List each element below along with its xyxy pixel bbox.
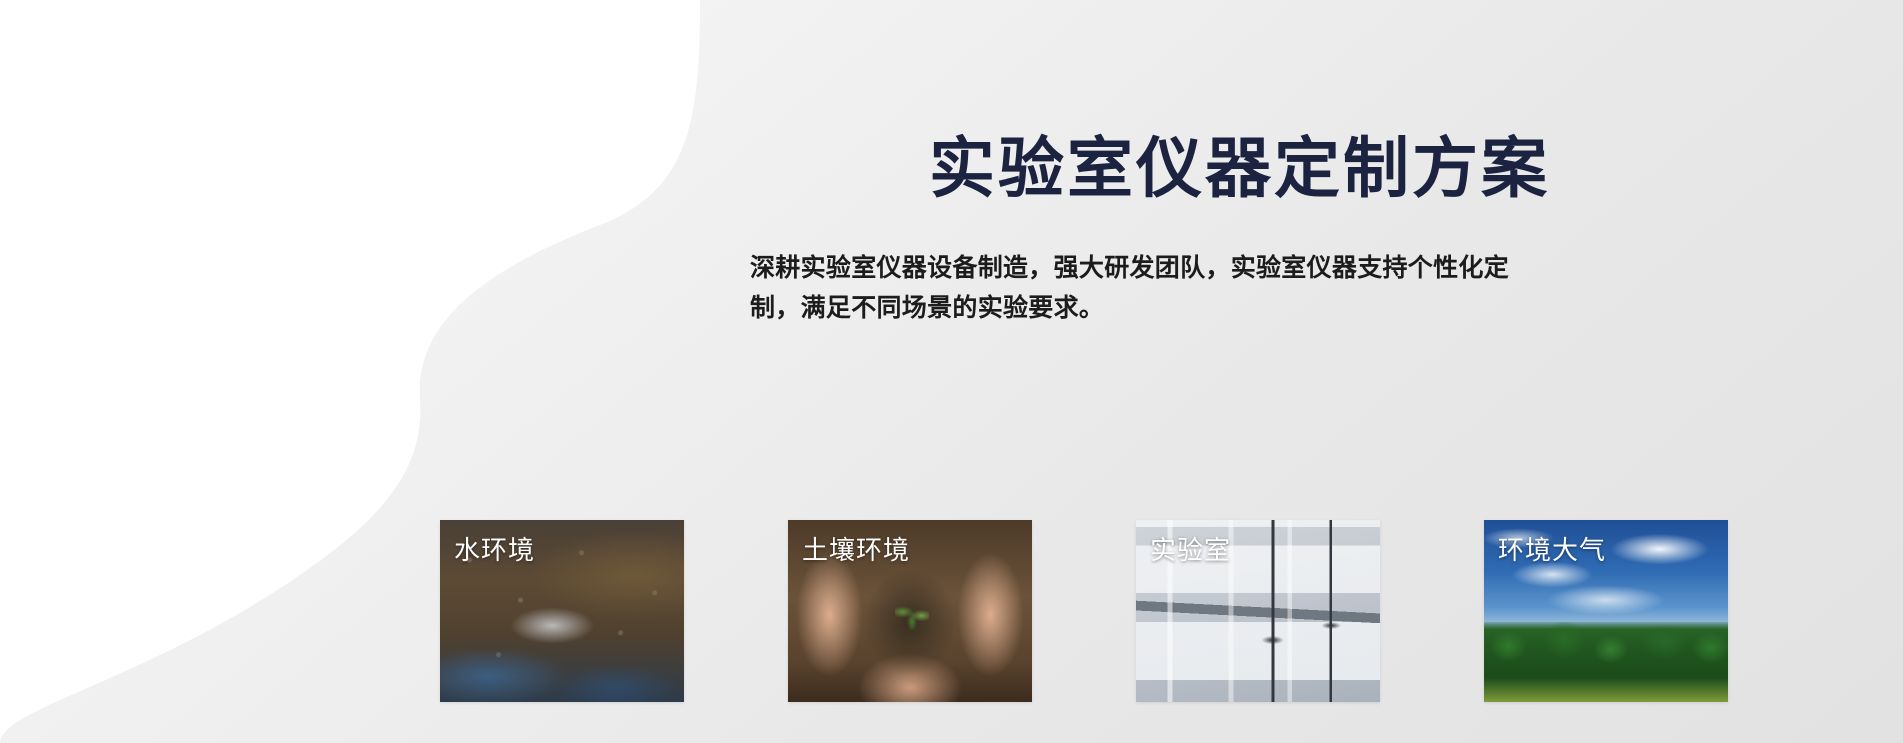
- page-title: 实验室仪器定制方案: [750, 130, 1750, 208]
- category-label: 土壤环境: [802, 530, 910, 567]
- category-label: 实验室: [1150, 530, 1231, 567]
- category-label: 水环境: [454, 530, 535, 567]
- category-card-atmosphere[interactable]: 环境大气: [1484, 520, 1728, 702]
- category-card-list: 水环境 土壤环境 实验室 环境大气: [440, 520, 1728, 702]
- category-card-laboratory[interactable]: 实验室: [1136, 520, 1380, 702]
- laboratory-instrument-banner: 实验室仪器定制方案 深耕实验室仪器设备制造，强大研发团队，实验室仪器支持个性化定…: [0, 0, 1903, 743]
- headline-block: 实验室仪器定制方案 深耕实验室仪器设备制造，强大研发团队，实验室仪器支持个性化定…: [750, 130, 1750, 329]
- category-card-water[interactable]: 水环境: [440, 520, 684, 702]
- page-subtitle: 深耕实验室仪器设备制造，强大研发团队，实验室仪器支持个性化定制，满足不同场景的实…: [750, 248, 1550, 329]
- category-label: 环境大气: [1498, 530, 1606, 567]
- category-card-soil[interactable]: 土壤环境: [788, 520, 1032, 702]
